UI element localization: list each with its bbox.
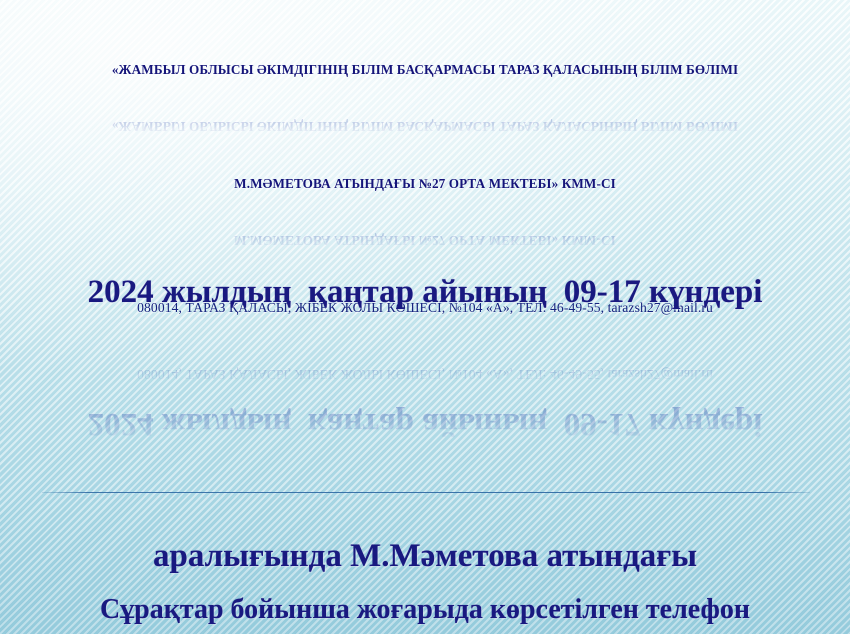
footer-line-1-text: Сұрақтар бойынша жоғарыда көрсетілген те… (0, 590, 850, 629)
slide-footer: Сұрақтар бойынша жоғарыда көрсетілген те… (0, 512, 850, 634)
announcement-line-1-text: 2024 жылдың қаңтар айының 09-17 күндері (0, 270, 850, 314)
announcement-slide: «ЖАМБЫЛ ОБЛЫСЫ ӘКІМДІГІНІҢ БІЛІМ БАСҚАРМ… (0, 0, 850, 634)
footer-line-1: Сұрақтар бойынша жоғарыда көрсетілген те… (0, 512, 850, 634)
announcement-line-1-reflection: 2024 жылдың қаңтар айының 09-17 күндері (0, 402, 850, 446)
header-line-1: «ЖАМБЫЛ ОБЛЫСЫ ӘКІМДІГІНІҢ БІЛІМ БАСҚАРМ… (0, 22, 850, 136)
horizontal-divider (42, 492, 810, 493)
header-line-1-text: «ЖАМБЫЛ ОБЛЫСЫ ӘКІМДІГІНІҢ БІЛІМ БАСҚАРМ… (0, 60, 850, 79)
announcement-line-1: 2024 жылдың қаңтар айының 09-17 күндері … (0, 182, 850, 446)
header-line-1-reflection: «ЖАМБЫЛ ОБЛЫСЫ ӘКІМДІГІНІҢ БІЛІМ БАСҚАРМ… (0, 117, 850, 136)
